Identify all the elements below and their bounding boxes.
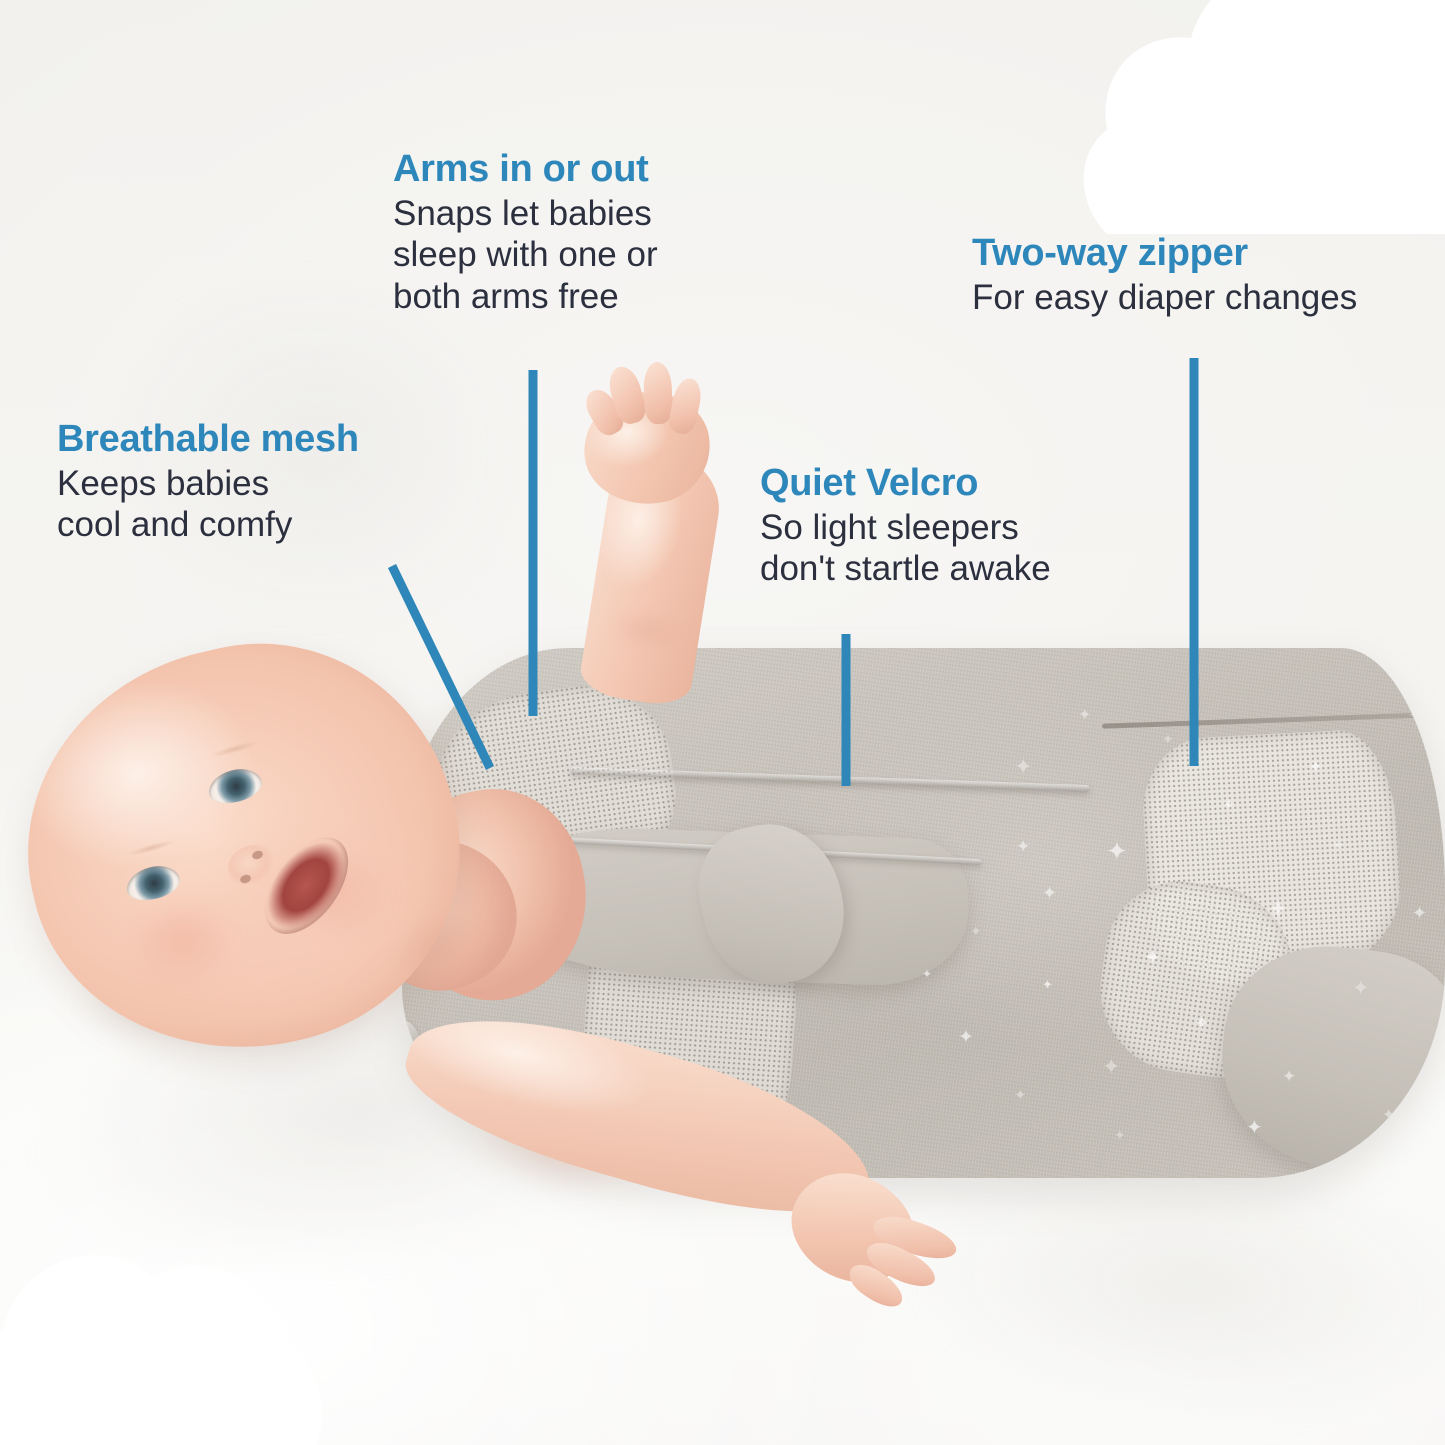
star-icon: ✦ <box>1042 884 1057 902</box>
star-icon: ✦ <box>922 968 932 980</box>
callout-title: Breathable mesh <box>57 418 487 461</box>
callout-body: Keeps babies cool and comfy <box>57 463 487 546</box>
baby-cheek-left <box>108 880 258 1000</box>
callout-arms-in-or-out: Arms in or out Snaps let babies sleep wi… <box>393 148 753 317</box>
star-icon: ✦ <box>1042 978 1053 991</box>
callout-body: Snaps let babies sleep with one or both … <box>393 193 753 318</box>
star-icon: ✦ <box>1016 838 1030 855</box>
star-icon: ✦ <box>1412 904 1427 922</box>
callout-body-line: both arms free <box>393 277 619 316</box>
star-icon: ✦ <box>1222 798 1235 814</box>
callout-body-line: sleep with one or <box>393 235 658 274</box>
star-icon: ✦ <box>1282 1068 1296 1085</box>
star-icon: ✦ <box>1332 838 1344 852</box>
star-icon: ✦ <box>970 924 982 938</box>
star-icon: ✦ <box>958 1028 974 1047</box>
callout-two-way-zipper: Two-way zipper For easy diaper changes <box>972 232 1442 318</box>
star-icon: ✦ <box>1194 1014 1209 1032</box>
star-icon: ✦ <box>1014 756 1032 778</box>
callout-body-line: Snaps let babies <box>393 194 652 233</box>
star-icon: ✦ <box>1106 838 1128 864</box>
star-icon: ✦ <box>1144 948 1161 968</box>
star-icon: ✦ <box>1078 708 1091 724</box>
callout-body: So light sleepers don't startle awake <box>760 507 1140 590</box>
star-icon: ✦ <box>1162 732 1174 746</box>
callout-title: Arms in or out <box>393 148 753 191</box>
callout-quiet-velcro: Quiet Velcro So light sleepers don't sta… <box>760 462 1140 590</box>
star-icon: ✦ <box>1114 1128 1126 1142</box>
star-icon: ✦ <box>1382 1108 1395 1124</box>
product-infographic: ✦✦✦✦✦✦✦✦✦✦✦✦✦✦✦✦✦✦✦✦✦✦✦✦✦✦✦✦✦✦ <box>0 0 1445 1445</box>
star-icon: ✦ <box>1352 978 1370 999</box>
star-icon: ✦ <box>1268 898 1288 922</box>
callout-title: Two-way zipper <box>972 232 1442 275</box>
callout-body-line: Keeps babies <box>57 464 269 503</box>
star-icon: ✦ <box>1102 1056 1120 1078</box>
callout-body-line: don't startle awake <box>760 549 1051 588</box>
star-icon: ✦ <box>1408 708 1421 723</box>
callout-body-line: So light sleepers <box>760 508 1019 547</box>
callout-title: Quiet Velcro <box>760 462 1140 505</box>
star-icon: ✦ <box>1014 1088 1027 1103</box>
callout-body: For easy diaper changes <box>972 277 1442 319</box>
callout-breathable-mesh: Breathable mesh Keeps babies cool and co… <box>57 418 487 546</box>
callout-body-line: cool and comfy <box>57 505 292 544</box>
star-icon: ✦ <box>1308 758 1323 776</box>
callout-body-line: For easy diaper changes <box>972 278 1357 317</box>
star-icon: ✦ <box>1246 1118 1263 1138</box>
